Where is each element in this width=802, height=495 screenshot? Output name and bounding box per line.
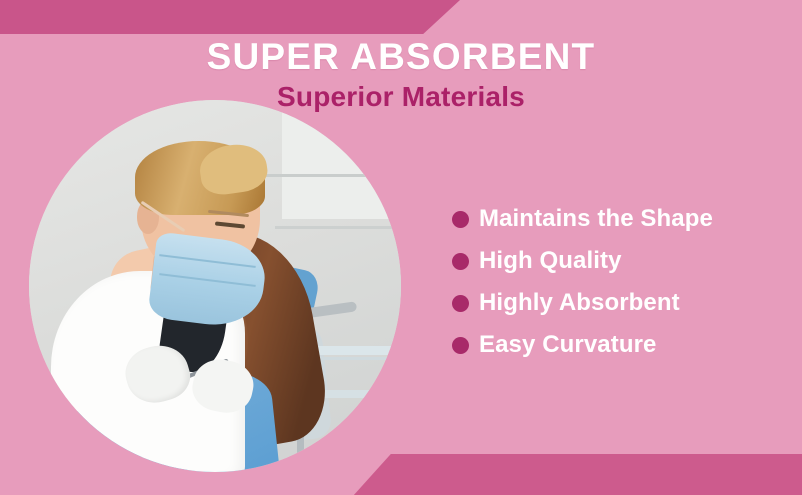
page-subtitle: Superior Materials <box>0 83 802 111</box>
feature-label: High Quality <box>479 249 622 273</box>
promo-banner: SUPER ABSORBENT Superior Materials <box>0 0 802 495</box>
list-item: Highly Absorbent <box>452 282 713 324</box>
wall-panel <box>282 107 401 219</box>
bullet-dot-icon <box>452 211 469 228</box>
feature-list: Maintains the Shape High Quality Highly … <box>452 198 713 366</box>
list-item: Maintains the Shape <box>452 198 713 240</box>
feature-label: Highly Absorbent <box>479 291 680 315</box>
feature-label: Maintains the Shape <box>479 207 713 231</box>
wall-shelf-lower <box>275 226 401 229</box>
heading-block: SUPER ABSORBENT Superior Materials <box>0 38 802 111</box>
feature-label: Easy Curvature <box>479 333 657 357</box>
wall-shelf <box>252 174 401 177</box>
bullet-dot-icon <box>452 295 469 312</box>
page-title: SUPER ABSORBENT <box>0 38 802 75</box>
dental-photo <box>29 100 401 472</box>
bottom-accent-band <box>340 454 802 495</box>
bullet-dot-icon <box>452 337 469 354</box>
bullet-dot-icon <box>452 253 469 270</box>
photo-illustration <box>29 100 401 472</box>
list-item: High Quality <box>452 240 713 282</box>
list-item: Easy Curvature <box>452 324 713 366</box>
top-accent-band <box>0 0 460 34</box>
